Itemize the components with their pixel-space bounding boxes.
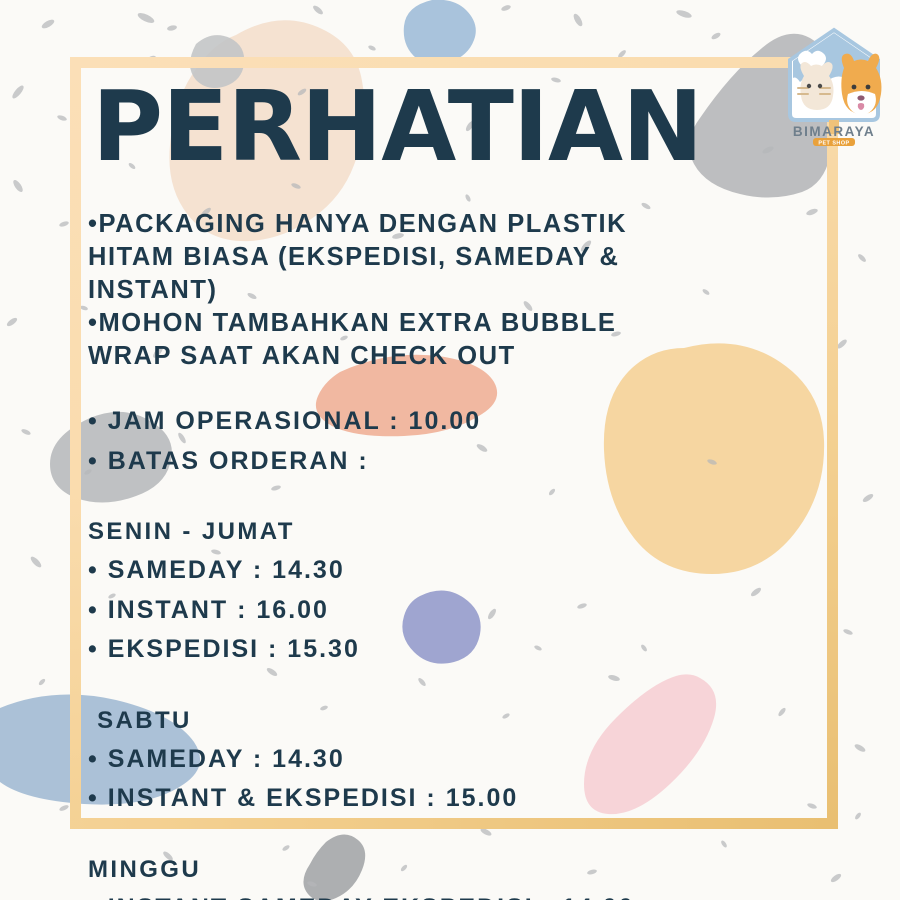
schedule-entry-senin-jumat-ekspedisi: • EKSPEDISI : 15.30	[88, 630, 788, 670]
page-title: PERHATIAN	[92, 78, 702, 177]
dog-nose	[857, 95, 864, 100]
spacer-2	[88, 481, 788, 513]
cat-icon	[800, 62, 833, 110]
notice-jam-operasional: • JAM OPERASIONAL : 10.00	[88, 402, 788, 442]
notice-body: •PACKAGING HANYA DENGAN PLASTIK HITAM BI…	[88, 208, 788, 900]
schedule-entry-senin-jumat-sameday: • SAMEDAY : 14.30	[88, 551, 788, 591]
poster-canvas: PERHATIAN •PACKAGING HANYA DENGAN PLASTI…	[0, 0, 900, 900]
poster-content: PERHATIAN •PACKAGING HANYA DENGAN PLASTI…	[0, 0, 900, 900]
schedule-entry-sabtu-sameday: • SAMEDAY : 14.30	[88, 740, 788, 780]
dog-eye-left	[852, 85, 857, 90]
spacer-3	[88, 670, 788, 702]
logo-brand-text: BIMARAYA	[793, 124, 875, 139]
cat-eye-right	[818, 84, 822, 88]
cat-eye-left	[807, 84, 811, 88]
notice-packaging: •PACKAGING HANYA DENGAN PLASTIK HITAM BI…	[88, 208, 788, 372]
brand-logo: BIMARAYA PET SHOP	[782, 24, 886, 146]
spacer-1	[88, 372, 788, 402]
schedule-entry-sabtu-instant-ekspedisi: • INSTANT & EKSPEDISI : 15.00	[88, 779, 788, 819]
spacer-4	[88, 819, 788, 851]
schedule-day-senin-jumat: SENIN - JUMAT	[88, 513, 788, 551]
schedule-entry-minggu-all: • INSTANT SAMEDAY EKSPEDISI : 14.00	[88, 889, 788, 900]
dog-eye-right	[866, 85, 871, 90]
notice-batas-orderan: • BATAS ORDERAN :	[88, 442, 788, 482]
schedule-day-minggu: MINGGU	[88, 851, 788, 889]
logo-tagline-text: PET SHOP	[818, 141, 849, 147]
schedule-entry-senin-jumat-instant: • INSTANT : 16.00	[88, 591, 788, 631]
schedule-day-sabtu: SABTU	[88, 702, 788, 740]
